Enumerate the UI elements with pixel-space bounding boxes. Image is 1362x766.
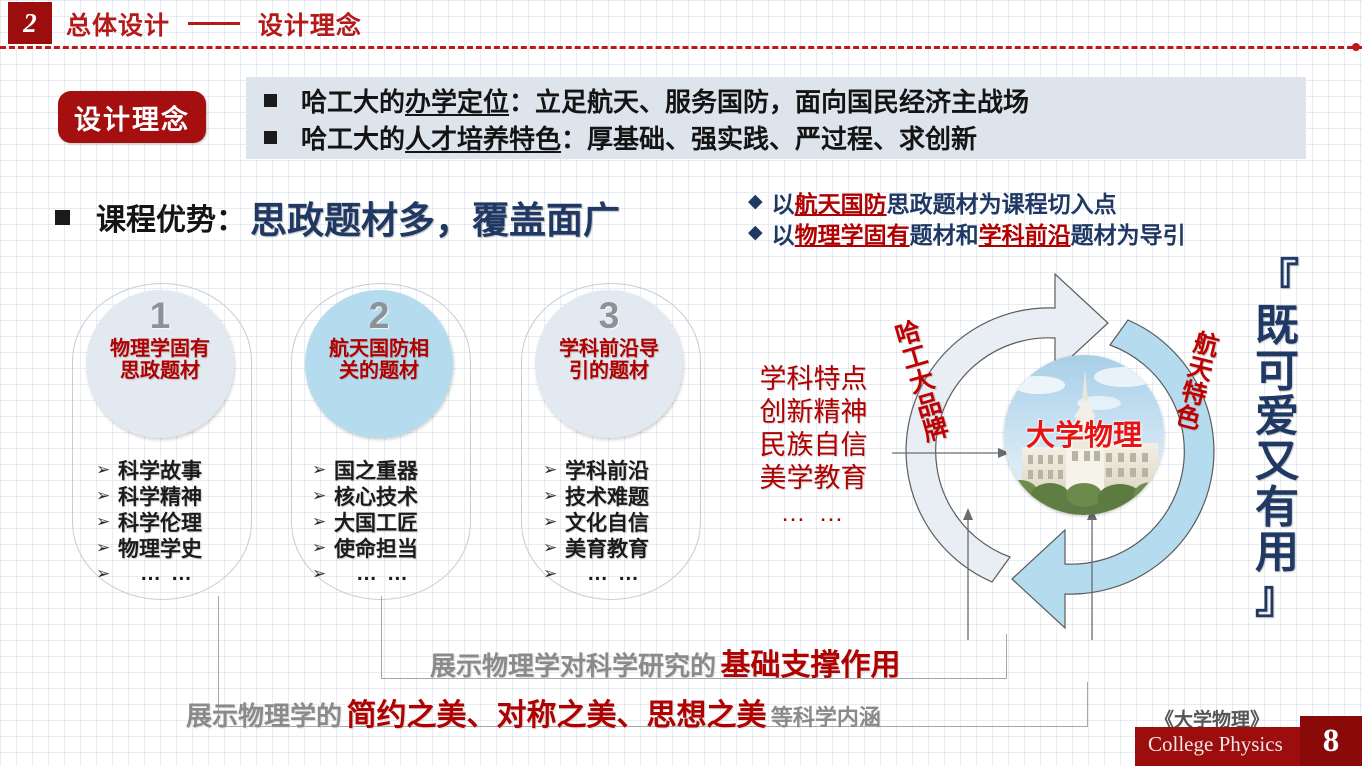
footer-title-en: College Physics [1148,732,1283,757]
statement-row-2: 哈工大的人才培养特色：厚基础、强实践、严过程、求创新 [246,119,1306,156]
arrow-bullet-icon: ➢ [96,486,118,506]
list-item: ➢学科前沿 [543,457,723,483]
bottom-caption-2: 展示物理学的 简约之美、对称之美、思想之美 等科学内涵 [186,690,881,734]
cycle-center-title: 大学物理 [1004,412,1164,454]
list-item: ➢物理学史 [96,535,276,561]
principle-keyword-3: 学科前沿 [979,222,1071,248]
statement-row-1: 哈工大的办学定位：立足航天、服务国防，面向国民经济主战场 [246,82,1306,119]
bracket-connector-2-stem [218,596,219,684]
list-item-ellipsis: ➢… … [312,561,492,587]
feature-value-list: 学科特点 创新精神 民族自信 美学教育 … … [736,363,891,528]
statement-keyword-2: 人才培养特色 [405,124,561,154]
connector-arrowhead-bottom-left [963,508,973,520]
topic-list-3: ➢学科前沿 ➢技术难题 ➢文化自信 ➢美育教育 ➢… … [543,457,723,587]
page-title-left: 总体设计 [66,12,170,40]
list-item: ➢文化自信 [543,509,723,535]
slide-section-number: 2 [8,2,52,44]
topic-caption-2: 航天国防相关的题材 [329,338,429,383]
arrow-bullet-icon: ➢ [543,460,565,480]
bottom-caption-1-red: 基础支撑作用 [720,649,900,682]
slogan-char-6: 用 [1246,530,1308,575]
principle-keyword-2: 物理学固有 [795,222,910,248]
slogan-char-4: 又 [1246,439,1308,484]
statement-keyword-1: 办学定位 [405,87,509,117]
statement-text-1: 哈工大的办学定位：立足航天、服务国防，面向国民经济主战场 [301,82,1029,119]
header-rule-end-dot [1352,43,1360,51]
square-bullet-icon [264,94,277,107]
arrow-bullet-icon: ➢ [543,564,565,584]
arrow-bullet-icon: ➢ [96,538,118,558]
feature-value-3: 民族自信 [736,429,891,462]
list-item: ➢核心技术 [312,483,492,509]
list-item: ➢使命担当 [312,535,492,561]
list-item: ➢国之重器 [312,457,492,483]
design-principle-2: ◆ 以物理学固有题材和学科前沿题材为导引 [748,217,1186,248]
square-bullet-icon [55,210,70,225]
bottom-caption-1-gray: 展示物理学对科学研究的 [430,651,716,681]
feature-value-2: 创新精神 [736,396,891,429]
arrow-bullet-icon: ➢ [96,564,118,584]
arrow-bullet-icon: ➢ [543,486,565,506]
statement-text-2: 哈工大的人才培养特色：厚基础、强实践、严过程、求创新 [301,119,977,156]
arrow-bullet-icon: ➢ [312,538,334,558]
feature-value-4: 美学教育 [736,462,891,495]
topic-list-2: ➢国之重器 ➢核心技术 ➢大国工匠 ➢使命担当 ➢… … [312,457,492,587]
slogan-char-7: 』 [1246,575,1308,620]
feature-value-1: 学科特点 [736,363,891,396]
principle-keyword-1: 航天国防 [795,191,887,217]
bracket-connector-1-stem [381,596,382,636]
topic-list-1: ➢科学故事 ➢科学精神 ➢科学伦理 ➢物理学史 ➢… … [96,457,276,587]
arrow-bullet-icon: ➢ [312,460,334,480]
course-advantage-label: 课程优势： [96,195,246,239]
feature-value-ellipsis: … … [736,499,891,528]
bottom-caption-2-gray-pre: 展示物理学的 [186,701,342,731]
bottom-caption-2-gray-post: 等科学内涵 [771,705,881,730]
topic-number-2: 2 [369,297,390,334]
arrow-bullet-icon: ➢ [543,512,565,532]
topic-circle-3: 3 学科前沿导引的题材 [535,290,683,438]
course-advantage-line: 课程优势： 思政题材多，覆盖面广 [55,190,620,244]
bottom-caption-1: 展示物理学对科学研究的 基础支撑作用 [430,640,900,684]
list-item: ➢科学精神 [96,483,276,509]
page-title: 总体设计 设计理念 [66,6,362,42]
arrow-bullet-icon: ➢ [312,564,334,584]
list-item-ellipsis: ➢… … [543,561,723,587]
list-item: ➢科学伦理 [96,509,276,535]
title-divider-line [188,22,240,25]
topic-caption-1: 物理学固有思政题材 [110,338,210,383]
design-principles-list: ◆ 以航天国防思政题材为课程切入点 ◆ 以物理学固有题材和学科前沿题材为导引 [748,186,1186,248]
list-item: ➢美育教育 [543,535,723,561]
topic-caption-3: 学科前沿导引的题材 [559,338,659,383]
square-bullet-icon [264,131,277,144]
course-advantage-highlight: 思政题材多，覆盖面广 [250,190,620,244]
arrow-bullet-icon: ➢ [312,486,334,506]
topic-circle-1: 1 物理学固有思政题材 [86,290,234,438]
diamond-bullet-icon: ◆ [748,190,763,213]
slogan-char-2: 可 [1246,349,1308,394]
arrow-bullet-icon: ➢ [543,538,565,558]
diamond-bullet-icon: ◆ [748,221,763,244]
arrow-bullet-icon: ➢ [312,512,334,532]
design-concept-badge: 设计理念 [58,91,206,143]
slogan-char-0: 『 [1246,258,1308,303]
arrow-bullet-icon: ➢ [96,512,118,532]
slogan-char-1: 既 [1246,303,1308,348]
list-item: ➢科学故事 [96,457,276,483]
list-item: ➢大国工匠 [312,509,492,535]
page-number: 8 [1300,716,1362,766]
header-dashed-rule [0,46,1362,49]
topic-circle-2: 2 航天国防相关的题材 [305,290,453,438]
list-item-ellipsis: ➢… … [96,561,276,587]
bottom-caption-2-red: 简约之美、对称之美、思想之美 [346,699,766,732]
page-title-right: 设计理念 [258,12,362,40]
topic-number-1: 1 [150,297,171,334]
slogan-vertical: 『 既 可 爱 又 有 用 』 [1246,258,1308,621]
arrow-bullet-icon: ➢ [96,460,118,480]
topic-number-3: 3 [599,297,620,334]
slogan-char-5: 有 [1246,485,1308,530]
statement-panel: 哈工大的办学定位：立足航天、服务国防，面向国民经济主战场 哈工大的人才培养特色：… [246,77,1306,159]
list-item: ➢技术难题 [543,483,723,509]
design-principle-1: ◆ 以航天国防思政题材为课程切入点 [748,186,1186,217]
slogan-char-3: 爱 [1246,394,1308,439]
